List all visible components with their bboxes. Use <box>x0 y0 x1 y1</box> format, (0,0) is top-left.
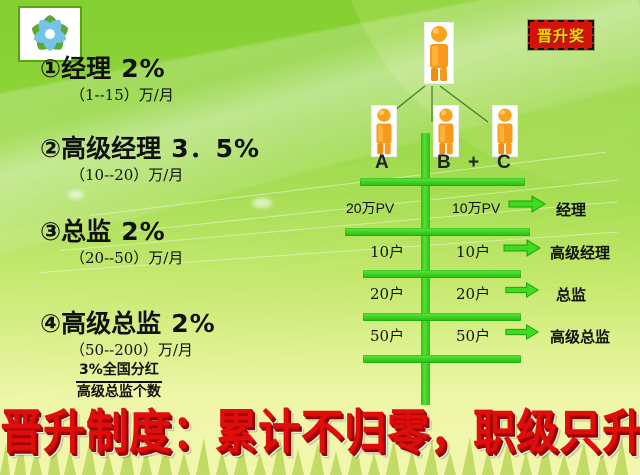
level-number: ③ <box>40 217 61 246</box>
bottom-banner: 晋升制度：累计不归零，职级只升不降 <box>0 394 640 462</box>
rank-label-0: 经理 <box>556 199 586 220</box>
level-percent: 3．5% <box>171 134 260 163</box>
level-percent: 2% <box>171 309 215 338</box>
level-range: （50--200）万/月 <box>70 339 340 360</box>
level-item-2: ②高级经理3．5% （10--20）万/月 <box>40 135 340 185</box>
level-number: ① <box>40 54 61 83</box>
level-title: ②高级经理3．5% <box>40 135 340 163</box>
rank-label-3: 高级总监 <box>550 326 610 347</box>
table-cell-left-1: 10户 <box>370 241 404 262</box>
level-range: （10--20）万/月 <box>70 164 340 185</box>
level-title: ④高级总监2% <box>40 310 340 338</box>
person-icon-b <box>433 105 459 157</box>
award-badge: 晋升奖 <box>528 20 594 50</box>
levels-list: ①经理2% （1--15）万/月 ②高级经理3．5% （10--20）万/月 ③… <box>40 55 340 407</box>
logo-pinwheel-icon <box>27 12 73 56</box>
level-percent: 2% <box>121 54 165 83</box>
person-figure-icon <box>372 106 396 156</box>
table-cell-left-3: 50户 <box>370 325 404 346</box>
arrow-right-icon-3 <box>504 323 540 341</box>
level-item-1: ①经理2% （1--15）万/月 <box>40 55 340 105</box>
row-divider-bar-4 <box>363 355 521 363</box>
leg-label-c: C <box>497 152 511 174</box>
level-number: ④ <box>40 309 61 338</box>
person-icon-root <box>424 22 454 84</box>
leg-operator-plus: + <box>468 152 479 174</box>
table-cell-right-2: 20户 <box>456 283 490 304</box>
level-name: 经理 <box>61 54 111 83</box>
table-cell-right-0: 10万PV <box>452 198 500 218</box>
level-name: 高级经理 <box>61 134 161 163</box>
rank-label-2: 总监 <box>556 284 586 305</box>
person-icon-c <box>492 105 518 157</box>
arrow-right-icon-1 <box>502 238 542 258</box>
vertical-divider-bar <box>421 133 430 405</box>
level-item-3: ③总监2% （20--50）万/月 <box>40 218 340 268</box>
rank-label-1: 高级经理 <box>550 242 610 263</box>
level-title: ③总监2% <box>40 218 340 246</box>
row-divider-bar-0 <box>360 178 525 186</box>
leg-label-a: A <box>375 152 389 174</box>
table-cell-left-2: 20户 <box>370 283 404 304</box>
row-divider-bar-3 <box>363 313 521 321</box>
arrow-right-icon-0 <box>508 194 546 214</box>
row-divider-bar-2 <box>363 270 521 278</box>
level-number: ② <box>40 134 61 163</box>
arrow-right-icon-2 <box>504 281 540 299</box>
award-badge-label: 晋升奖 <box>537 25 585 46</box>
table-cell-left-0: 20万PV <box>346 198 394 218</box>
person-icon-a <box>371 105 397 157</box>
level-item-4: ④高级总监2% （50--200）万/月 3%全国分红 高级总监个数 <box>40 310 340 401</box>
table-cell-right-3: 50户 <box>456 325 490 346</box>
person-figure-icon <box>425 23 453 83</box>
level-range: （1--15）万/月 <box>70 84 340 105</box>
level-name: 高级总监 <box>61 309 161 338</box>
level-percent: 2% <box>121 217 165 246</box>
level-title: ①经理2% <box>40 55 340 83</box>
level-name: 总监 <box>61 217 111 246</box>
fraction-numerator: 3%全国分红 <box>76 362 162 383</box>
row-divider-bar-1 <box>345 228 530 236</box>
person-figure-icon <box>434 106 458 156</box>
person-figure-icon <box>493 106 517 156</box>
level-range: （20--50）万/月 <box>70 247 340 268</box>
slide-canvas: ①经理2% （1--15）万/月 ②高级经理3．5% （10--20）万/月 ③… <box>0 0 640 475</box>
table-cell-right-1: 10户 <box>456 241 490 262</box>
leg-label-b: B <box>437 152 451 174</box>
